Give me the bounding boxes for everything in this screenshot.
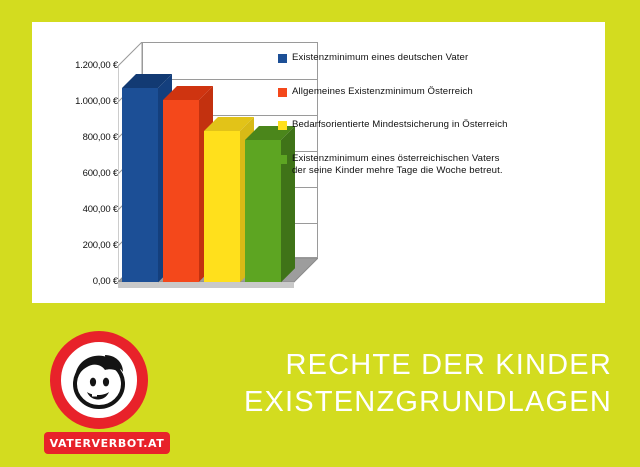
legend-item[interactable]: Bedarfsorientierte Mindestsicherung in Ö… — [278, 119, 568, 132]
bottom-banner: VATERVERBOT.AT RECHTE DER KINDER EXISTEN… — [0, 303, 640, 467]
bar — [245, 140, 281, 282]
legend-color-swatch — [278, 88, 287, 97]
legend-item[interactable]: Allgemeines Existenzminimum Österreich — [278, 86, 568, 99]
y-axis-tick: 0,00 € — [38, 276, 118, 287]
legend-item[interactable]: Existenzminimum eines österreichischen V… — [278, 153, 568, 178]
y-axis-tick: 200,00 € — [38, 240, 118, 251]
chart-legend: Existenzminimum eines deutschen VaterAll… — [278, 52, 568, 199]
legend-item-label-line2: der seine Kinder mehre Tage die Woche be… — [292, 165, 503, 176]
bar — [163, 100, 199, 282]
y-axis-tick: 1.000,00 € — [38, 96, 118, 107]
legend-item[interactable]: Existenzminimum eines deutschen Vater — [278, 52, 568, 65]
y-axis-tick: 800,00 € — [38, 132, 118, 143]
legend-item-label: Allgemeines Existenzminimum Österreich — [292, 86, 473, 99]
child-face-icon — [61, 342, 137, 418]
headline-line-1: RECHTE DER KINDER — [244, 347, 612, 384]
legend-color-swatch — [278, 155, 287, 164]
y-axis-tick: 400,00 € — [38, 204, 118, 215]
vaterverbot-logo[interactable]: VATERVERBOT.AT — [44, 331, 180, 455]
headline-line-2: EXISTENZGRUNDLAGEN — [244, 384, 612, 421]
bar — [122, 88, 158, 282]
y-axis-tick: 1.200,00 € — [38, 60, 118, 71]
y-axis-tick: 600,00 € — [38, 168, 118, 179]
page-root: { "theme": { "background": "#d3dc1f", "p… — [0, 0, 640, 467]
legend-item-label: Existenzminimum eines österreichischen V… — [292, 153, 503, 178]
legend-color-swatch — [278, 54, 287, 63]
prohibition-sign-icon — [50, 331, 148, 429]
headline: RECHTE DER KINDER EXISTENZGRUNDLAGEN — [244, 347, 612, 421]
y-axis: 1.200,00 €1.000,00 €800,00 €600,00 €400,… — [38, 46, 118, 276]
legend-item-label: Existenzminimum eines deutschen Vater — [292, 52, 468, 65]
legend-item-label: Bedarfsorientierte Mindestsicherung in Ö… — [292, 119, 508, 132]
logo-banner: VATERVERBOT.AT — [44, 432, 170, 454]
legend-color-swatch — [278, 121, 287, 130]
logo-banner-text: VATERVERBOT.AT — [50, 437, 165, 450]
bar — [204, 131, 240, 282]
